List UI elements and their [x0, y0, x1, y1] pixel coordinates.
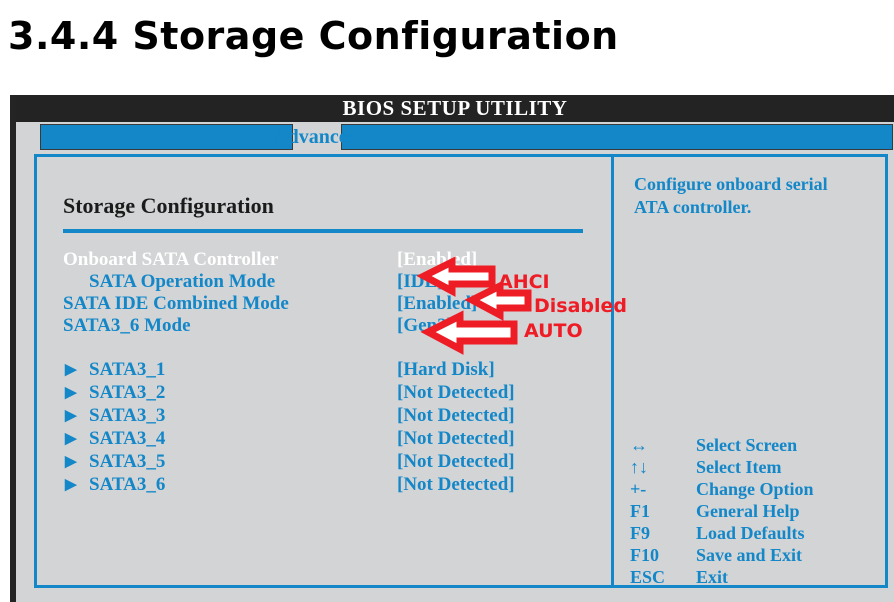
key-name: F1 — [630, 501, 686, 522]
key-name: ESC — [630, 567, 686, 588]
device-value: [Not Detected] — [397, 405, 515, 427]
device-label: SATA3_5 — [89, 451, 165, 473]
section-underline — [63, 229, 583, 233]
key-legend-row-exit: ESC Exit — [630, 567, 880, 589]
option-label: Onboard SATA Controller — [63, 249, 278, 271]
storage-configuration-panel: Storage Configuration Onboard SATA Contr… — [37, 157, 611, 585]
device-value: [Not Detected] — [397, 451, 515, 473]
key-desc: Load Defaults — [696, 523, 805, 544]
key-legend-row-general-help: F1 General Help — [630, 501, 880, 523]
key-name: ↔ — [630, 435, 686, 456]
triangle-right-icon: ▶ — [65, 452, 79, 472]
bios-setup-window: BIOS SETUP UTILITY Advanced Storage Conf… — [10, 95, 894, 602]
tab-advanced-label: Advanced — [186, 123, 446, 151]
device-label: SATA3_2 — [89, 382, 165, 404]
option-row-sata-ide-combined-mode[interactable]: SATA IDE Combined Mode [Enabled] — [37, 293, 611, 315]
key-legend: ↔ Select Screen ↑↓ Select Item +- Change… — [630, 435, 880, 589]
device-row-sata3-5[interactable]: ▶ SATA3_5 [Not Detected] — [37, 451, 611, 474]
device-row-sata3-6[interactable]: ▶ SATA3_6 [Not Detected] — [37, 474, 611, 497]
device-label: SATA3_1 — [89, 359, 165, 381]
key-desc: Select Screen — [696, 435, 797, 456]
key-legend-row-save-and-exit: F10 Save and Exit — [630, 545, 880, 567]
key-name: +- — [630, 479, 686, 500]
key-desc: Save and Exit — [696, 545, 802, 566]
device-row-sata3-3[interactable]: ▶ SATA3_3 [Not Detected] — [37, 405, 611, 428]
bios-content-frame: Storage Configuration Onboard SATA Contr… — [34, 154, 888, 588]
key-desc: Exit — [696, 567, 728, 588]
device-label: SATA3_3 — [89, 405, 165, 427]
key-desc: Select Item — [696, 457, 781, 478]
option-value[interactable]: [Enabled] — [397, 293, 477, 315]
option-row-onboard-sata-controller[interactable]: Onboard SATA Controller [Enabled] — [37, 249, 611, 271]
key-legend-row-change-option: +- Change Option — [630, 479, 880, 501]
triangle-right-icon: ▶ — [65, 383, 79, 403]
device-value: [Not Detected] — [397, 428, 515, 450]
device-row-sata3-1[interactable]: ▶ SATA3_1 [Hard Disk] — [37, 359, 611, 382]
option-label: SATA Operation Mode — [89, 271, 275, 293]
triangle-right-icon: ▶ — [65, 406, 79, 426]
triangle-right-icon: ▶ — [65, 475, 79, 495]
help-panel: Configure onboard serial ATA controller.… — [614, 157, 885, 585]
option-label: SATA IDE Combined Mode — [63, 293, 289, 315]
option-row-sata3-6-mode[interactable]: SATA3_6 Mode [Gen2] — [37, 315, 611, 337]
option-value[interactable]: [Enabled] — [397, 249, 477, 271]
key-desc: General Help — [696, 501, 799, 522]
key-desc: Change Option — [696, 479, 814, 500]
key-name: F9 — [630, 523, 686, 544]
key-legend-row-load-defaults: F9 Load Defaults — [630, 523, 880, 545]
page-title: 3.4.4 Storage Configuration — [8, 8, 708, 64]
section-title: Storage Configuration — [63, 193, 274, 219]
option-label: SATA3_6 Mode — [63, 315, 191, 337]
device-value: [Not Detected] — [397, 382, 515, 404]
triangle-right-icon: ▶ — [65, 429, 79, 449]
bios-tab-strip: Advanced — [16, 122, 894, 152]
device-row-sata3-4[interactable]: ▶ SATA3_4 [Not Detected] — [37, 428, 611, 451]
option-row-sata-operation-mode[interactable]: SATA Operation Mode [IDE] — [37, 271, 611, 293]
device-value: [Not Detected] — [397, 474, 515, 496]
key-legend-row-select-item: ↑↓ Select Item — [630, 457, 880, 479]
device-row-sata3-2[interactable]: ▶ SATA3_2 [Not Detected] — [37, 382, 611, 405]
key-legend-row-select-screen: ↔ Select Screen — [630, 435, 880, 457]
device-label: SATA3_4 — [89, 428, 165, 450]
triangle-right-icon: ▶ — [65, 360, 79, 380]
option-value[interactable]: [IDE] — [397, 271, 443, 293]
help-text: Configure onboard serial ATA controller. — [634, 173, 859, 219]
key-name: F10 — [630, 545, 686, 566]
option-value[interactable]: [Gen2] — [397, 315, 453, 337]
key-name: ↑↓ — [630, 457, 686, 478]
device-label: SATA3_6 — [89, 474, 165, 496]
device-value: [Hard Disk] — [397, 359, 495, 381]
bios-title-bar: BIOS SETUP UTILITY — [16, 95, 894, 122]
